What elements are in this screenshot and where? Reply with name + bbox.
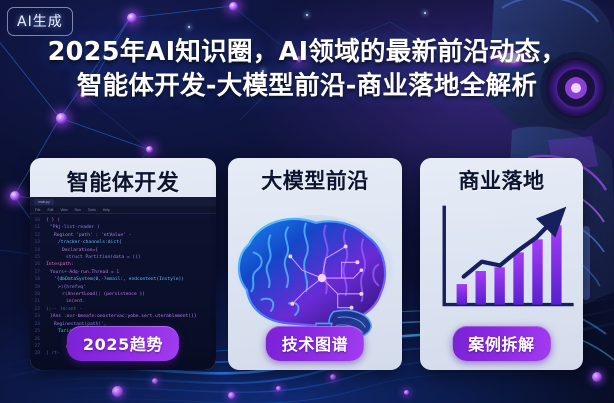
network-node <box>146 146 153 153</box>
code-line: 13/tracker-channels:dict{ <box>30 239 216 246</box>
code-line-text: >){hrefvq' <box>44 284 86 291</box>
code-line-text: r(AnsertLoad(; (persistence )) <box>44 291 145 298</box>
glow-particle <box>276 386 281 391</box>
code-line-text: { } ) <box>44 217 60 224</box>
ai-generated-badge: AI生成 <box>7 7 73 36</box>
code-line-number: 13 <box>30 239 44 246</box>
code-line-number: 25 <box>30 328 44 335</box>
code-line: 20r(AnsertLoad(; (persistence )) <box>30 291 216 298</box>
network-node <box>127 13 137 23</box>
glow-particle <box>112 386 123 397</box>
chart-bar <box>513 252 523 304</box>
chart-bar <box>551 225 561 304</box>
code-line-number: 24 <box>30 321 44 328</box>
card-agent-development[interactable]: 智能体开发 main.py File Edit View Run Tools H… <box>30 158 216 370</box>
code-line-text: Regiont 'path' : 'etValue' - <box>44 232 131 239</box>
code-line-number: 21 <box>30 298 44 305</box>
code-line: 23}Ans :ovr-bmeafe:onostervac:yobe.sert.… <box>30 313 216 320</box>
code-line-number: 12 <box>30 232 44 239</box>
card-business-implementation[interactable]: 商业落地 <box>420 158 583 370</box>
code-line-number: 11 <box>30 224 44 231</box>
card-title: 商业落地 <box>459 165 545 195</box>
code-line: 14Declaration={ <box>30 247 216 254</box>
background-spark <box>424 12 426 14</box>
menu-item-file[interactable]: File <box>35 208 40 212</box>
code-line: 21in(ent. <box>30 298 216 305</box>
code-line-text <box>44 336 62 343</box>
code-line-number: 18 <box>30 276 44 283</box>
code-line-text: /tracker-channels:dict{ <box>44 239 122 246</box>
code-line-number: 14 <box>30 247 44 254</box>
code-line-number: 16 <box>30 261 44 268</box>
code-line-number: 27 <box>30 343 44 350</box>
code-line-number: 10 <box>30 217 44 224</box>
menu-item-edit[interactable]: Edit <box>47 208 53 212</box>
poster-root: AI生成 2025年AI知识圈，AI领域的最新前沿动态， 智能体开发-大模型前沿… <box>0 0 614 403</box>
card-title: 智能体开发 <box>67 165 180 197</box>
code-line-text: in(ent. <box>44 298 85 305</box>
menu-item-tools[interactable]: Tools <box>88 208 96 212</box>
menu-item-help[interactable]: Help <box>103 208 110 212</box>
code-line-text: }Ans :ovr-bmeafe:onostervac:yobe.sert.ut… <box>44 313 197 320</box>
editor-tab[interactable]: main.py <box>34 199 54 205</box>
code-line-number: 26 <box>30 336 44 343</box>
code-line-text: };-- }m:ent - <box>44 306 82 313</box>
network-node <box>229 2 238 11</box>
network-node <box>56 113 67 124</box>
growth-bar-chart <box>426 199 578 321</box>
card-title: 大模型前沿 <box>261 165 369 195</box>
code-line-number: 23 <box>30 313 44 320</box>
menu-item-view[interactable]: View <box>60 208 67 212</box>
code-line-text: Yours+-Adq-run.Thread = 1 <box>44 269 119 276</box>
code-line-number: 19 <box>30 284 44 291</box>
title-line-1: 2025年AI知识圈，AI领域的最新前沿动态， <box>48 37 567 67</box>
card-badge-trend[interactable]: 2025趋势 <box>67 326 179 361</box>
page-title: 2025年AI知识圈，AI领域的最新前沿动态， 智能体开发-大模型前沿-商业落地… <box>0 36 614 104</box>
menu-item-run[interactable]: Run <box>75 208 81 212</box>
card-badge-case-study[interactable]: 案例拆解 <box>452 326 550 361</box>
background-spark <box>306 14 308 16</box>
code-line: 17Yours+-Adq-run.Thread = 1 <box>30 269 216 276</box>
chart-bar <box>532 239 542 304</box>
code-line-number: 17 <box>30 269 44 276</box>
glow-particle <box>330 374 336 380</box>
code-line: 10{ } ) <box>30 217 216 224</box>
editor-menubar: File Edit View Run Tools Help <box>30 206 216 214</box>
chart-bar <box>476 271 486 305</box>
code-line-number: 20 <box>30 291 44 298</box>
card-badge-tech-map[interactable]: 技术图谱 <box>266 326 364 361</box>
code-line: 22};-- }m:ent - <box>30 306 216 313</box>
card-row: 智能体开发 main.py File Edit View Run Tools H… <box>0 158 614 372</box>
code-line-number: 15 <box>30 254 44 261</box>
title-line-2: 智能体开发-大模型前沿-商业落地全解析 <box>0 70 614 104</box>
glow-particle <box>152 378 158 384</box>
background-spark <box>188 26 190 28</box>
glow-particle <box>228 392 235 399</box>
code-line-number: 28 <box>30 350 44 357</box>
code-line: 11"Pkj-list-reader ) <box>30 224 216 231</box>
code-line-text: Intespath: <box>44 261 74 268</box>
code-line-text: "Pkj-list-reader ) <box>44 224 100 231</box>
code-line-text: Declaration={ <box>44 247 98 254</box>
code-line-text: '{dbDataSystem(0,-?email:, endcontent(In… <box>44 276 184 283</box>
chart-bar <box>494 267 504 304</box>
code-line: 16Intespath: <box>30 261 216 268</box>
code-line: 15struct Partition(data = ()) <box>30 254 216 261</box>
code-line: 12Regiont 'path' : 'etValue' - <box>30 232 216 239</box>
card-large-model-frontier[interactable]: 大模型前沿 <box>228 158 402 370</box>
code-line-text: | rt- <box>44 350 60 357</box>
code-line: 19>){hrefvq' <box>30 284 216 291</box>
glow-particle <box>404 390 409 395</box>
code-line: 18'{dbDataSystem(0,-?email:, endcontent(… <box>30 276 216 283</box>
code-line-text: struct Partition(data = ()) <box>44 254 141 261</box>
chart-bar <box>457 284 467 305</box>
code-line-number: 22 <box>30 306 44 313</box>
editor-titlebar: main.py <box>30 197 216 206</box>
